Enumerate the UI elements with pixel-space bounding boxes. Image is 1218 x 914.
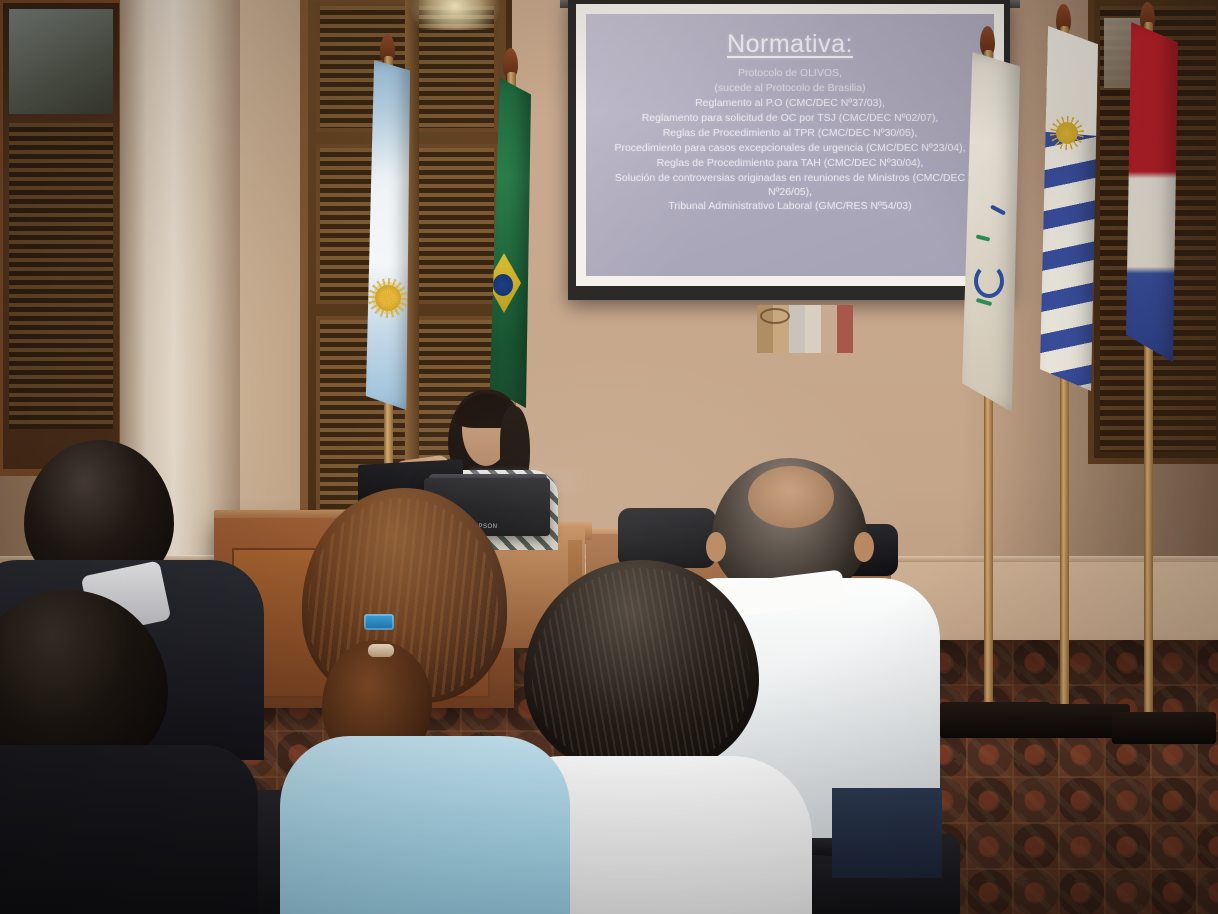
light-blue-top: [280, 736, 570, 914]
slide-line-4: Reglamento para solicitud de OC por TSJ …: [642, 111, 939, 126]
mercosur-logo-icon: [976, 234, 991, 241]
sun-of-may-icon: [375, 285, 401, 311]
presentation-room-photo: Normativa: Protocolo de OLIVOS, (sucede …: [0, 0, 1218, 914]
window-far-left: [0, 0, 126, 476]
slide-title: Normativa:: [727, 30, 853, 59]
scalp: [748, 466, 834, 528]
window-louvers: [9, 123, 113, 429]
uruguay-sun-icon: [1056, 122, 1078, 144]
projected-slide: Normativa: Protocolo de OLIVOS, (sucede …: [586, 14, 994, 276]
slide-line-3: Reglamento al P.O (CMC/DEC Nº37/03),: [695, 96, 885, 111]
slide-line-8: Solución de controversias originadas en …: [610, 171, 970, 199]
brazil-globe-icon: [493, 274, 513, 296]
trousers: [832, 788, 942, 878]
ceiling-light-glow: [410, 0, 500, 30]
slide-line-2: (sucede al Protocolo de Brasilia): [714, 81, 865, 96]
shoulders: [0, 745, 258, 914]
slide-line-6: Procedimiento para casos excepcionales d…: [614, 141, 965, 156]
ear: [854, 532, 874, 562]
mercosur-logo-icon: [974, 264, 1004, 298]
window-glass: [9, 9, 113, 114]
chair-back: [618, 508, 716, 568]
slide-line-7: Reglas de Procedimiento para TAH (CMC/DE…: [657, 156, 924, 171]
flag-cloth-uruguay: [1040, 26, 1098, 391]
slide-line-1: Protocolo de OLIVOS,: [738, 66, 842, 81]
flag-base: [1112, 712, 1216, 744]
swatch-pencil-mark: [760, 308, 790, 324]
hair-tie: [368, 644, 394, 657]
slide-line-9: Tribunal Administrativo Laboral (GMC/RES…: [668, 199, 911, 214]
slide-line-5: Reglas de Procedimiento al TPR (CMC/DEC …: [663, 126, 918, 141]
projection-screen: Normativa: Protocolo de OLIVOS, (sucede …: [568, 0, 1010, 300]
ear: [706, 532, 726, 562]
flag-cloth-paraguay: [1126, 22, 1178, 362]
hair-clip: [364, 614, 394, 630]
mercosur-logo-icon: [976, 298, 992, 306]
screen-white-border: Normativa: Protocolo de OLIVOS, (sucede …: [576, 4, 1004, 286]
mercosur-logo-icon: [990, 204, 1006, 215]
